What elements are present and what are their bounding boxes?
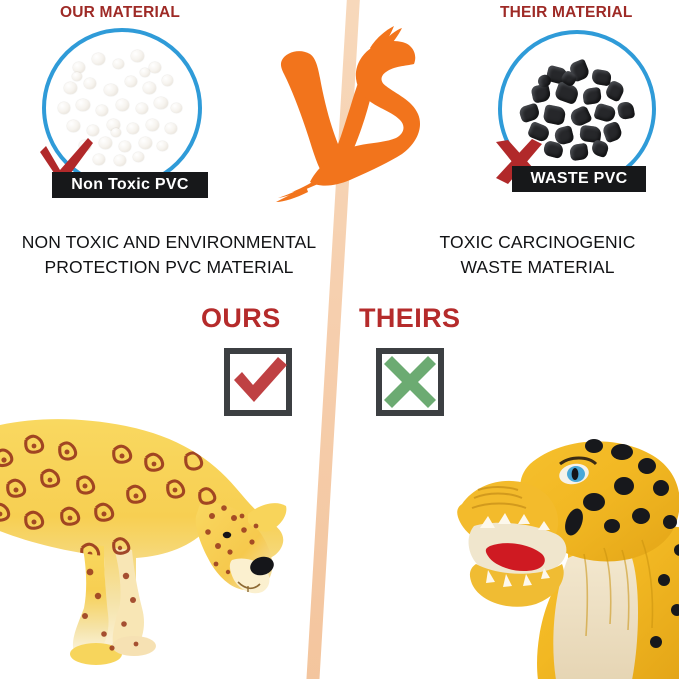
leopard-figurine-theirs [418,398,679,679]
their-description-line-2: WASTE MATERIAL [396,255,679,280]
non-toxic-pvc-chip: Non Toxic PVC [52,172,208,198]
vs-brush-icon [276,24,428,216]
check-icon [222,344,294,416]
ours-verdict-checkbox [224,348,292,416]
their-material-description: TOXIC CARCINOGENIC WASTE MATERIAL [396,230,679,281]
infographic-canvas: OUR MATERIAL [0,0,679,679]
theirs-verdict-checkbox [376,348,444,416]
their-description-line-1: TOXIC CARCINOGENIC [396,230,679,255]
waste-pvc-chip: WASTE PVC [512,166,646,192]
theirs-verdict-label: THEIRS [359,303,460,334]
our-material-heading: OUR MATERIAL [60,4,180,22]
ours-verdict-label: OURS [201,303,281,334]
their-material-heading: THEIR MATERIAL [500,4,633,22]
our-description-line-2: PROTECTION PVC MATERIAL [0,255,338,280]
cross-icon [374,344,446,416]
our-material-description: NON TOXIC AND ENVIRONMENTAL PROTECTION P… [0,230,338,281]
leopard-figurine-ours [0,396,316,666]
our-description-line-1: NON TOXIC AND ENVIRONMENTAL [0,230,338,255]
